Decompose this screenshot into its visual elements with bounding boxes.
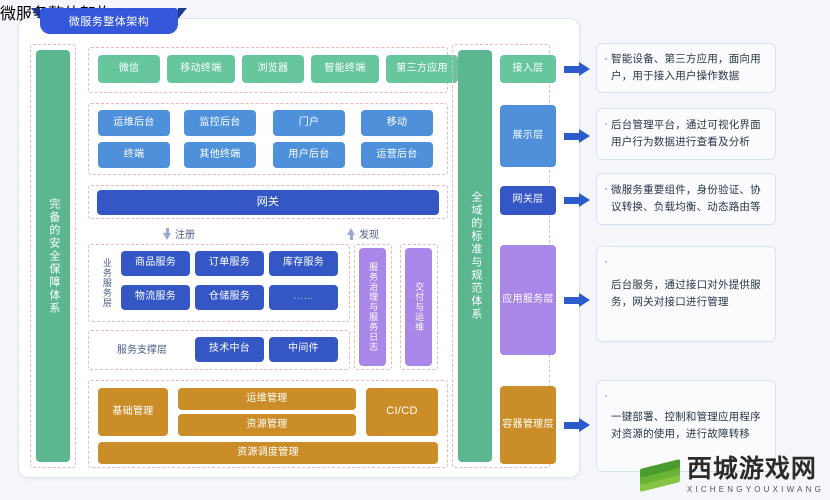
description-presentation-text: 后台管理平台，通过可视化界面用户行为数据进行查看及分析 [611, 117, 766, 151]
container-ops-management[interactable]: 运维管理 [178, 388, 356, 410]
layer-container[interactable]: 容器管理层 [500, 386, 556, 464]
presentation-mobile[interactable]: 移动 [361, 110, 433, 136]
description-access-text: 智能设备、第三方应用，面向用户，用于接入用户操作数据 [611, 51, 766, 85]
register-label: 注册 [175, 226, 195, 241]
layer-presentation[interactable]: 展示层 [500, 105, 556, 167]
business-layer-label: 业务服务层 [95, 248, 117, 318]
arrow-to-presentation-desc [564, 129, 590, 143]
watermark: 西城游戏网 XICHENGYOUXIWANG [640, 457, 824, 494]
description-gateway-text: 微服务重要组件，身份验证、协议转换、负载均衡、动态路由等 [611, 182, 766, 216]
access-item-browser[interactable]: 浏览器 [242, 55, 304, 83]
watermark-subtitle: XICHENGYOUXIWANG [687, 485, 824, 494]
service-logistics[interactable]: 物流服务 [121, 285, 190, 310]
bullet-icon: · [604, 52, 608, 64]
layer-application[interactable]: 应用服务层 [500, 245, 556, 355]
container-resource-scheduler[interactable]: 资源调度管理 [98, 442, 438, 464]
presentation-ops-console[interactable]: 运维后台 [98, 110, 170, 136]
container-resource-management[interactable]: 资源管理 [178, 414, 356, 436]
access-item-wechat[interactable]: 微信 [98, 55, 160, 83]
service-order[interactable]: 订单服务 [195, 251, 264, 276]
presentation-other-terminal[interactable]: 其他终端 [184, 142, 256, 168]
gateway-bar[interactable]: 网关 [97, 190, 439, 215]
bullet-icon: · [604, 117, 608, 129]
service-more[interactable]: …… [269, 285, 338, 310]
support-layer-label: 服务支撑层 [104, 337, 180, 363]
arrow-to-application-desc [564, 293, 590, 307]
discover-flow: 发现 [347, 226, 379, 241]
description-container-text: 一键部署、控制和管理应用程序对资源的使用，进行故障转移 [611, 409, 766, 443]
arrow-up-icon [347, 228, 355, 235]
layer-access[interactable]: 接入层 [500, 55, 556, 83]
arrow-to-container-desc [564, 418, 590, 432]
description-gateway: · 微服务重要组件，身份验证、协议转换、负载均衡、动态路由等 [596, 173, 776, 225]
bullet-icon: · [604, 182, 608, 194]
service-stock[interactable]: 库存服务 [269, 251, 338, 276]
bullet-icon: · [604, 255, 608, 267]
discover-label: 发现 [359, 226, 379, 241]
layer-gateway[interactable]: 网关层 [500, 186, 556, 215]
description-application-text: 后台服务，通过接口对外提供服务，网关对接口进行管理 [611, 277, 766, 311]
description-presentation: · 后台管理平台，通过可视化界面用户行为数据进行查看及分析 [596, 108, 776, 160]
register-flow: 注册 [163, 226, 195, 241]
delivery-ops-pillar[interactable]: 交付与运维 [405, 248, 432, 366]
security-guarantee-bar: 完备的安全保障体系 [36, 50, 70, 462]
presentation-terminal[interactable]: 终端 [98, 142, 170, 168]
watermark-title: 西城游戏网 [687, 457, 824, 482]
governance-logging-pillar[interactable]: 服务治理与服务日志 [359, 248, 386, 366]
bullet-icon: · [604, 389, 608, 401]
description-access: · 智能设备、第三方应用，面向用户，用于接入用户操作数据 [596, 43, 776, 93]
presentation-monitor-console[interactable]: 监控后台 [184, 110, 256, 136]
diagram-title-ribbon: 微服务整体架构 [40, 8, 178, 34]
access-item-mobile[interactable]: 移动终端 [167, 55, 235, 83]
architecture-diagram: 微服务整体架构 完备的安全保障体系 微信 移动终端 浏览器 智能终端 第三方应用… [0, 0, 830, 500]
description-application: · 后台服务，通过接口对外提供服务，网关对接口进行管理 [596, 246, 776, 342]
presentation-portal[interactable]: 门户 [273, 110, 345, 136]
access-item-third-party[interactable]: 第三方应用 [386, 55, 458, 83]
access-item-smart-terminal[interactable]: 智能终端 [311, 55, 379, 83]
service-warehouse[interactable]: 仓储服务 [195, 285, 264, 310]
presentation-user-console[interactable]: 用户后台 [273, 142, 345, 168]
arrow-to-access-desc [564, 62, 590, 76]
container-base-management[interactable]: 基础管理 [98, 388, 168, 436]
watermark-layers-icon [640, 458, 680, 494]
page-title: 微服务整体架构 [69, 13, 150, 29]
arrow-to-gateway-desc [564, 193, 590, 207]
service-product[interactable]: 商品服务 [121, 251, 190, 276]
support-tech-platform[interactable]: 技术中台 [195, 337, 264, 362]
support-middleware[interactable]: 中间件 [269, 337, 338, 362]
arrow-down-icon [163, 233, 171, 240]
container-cicd[interactable]: CI/CD [366, 388, 438, 436]
standards-specification-bar: 全域的标准与规范体系 [458, 50, 492, 462]
presentation-operation-console[interactable]: 运营后台 [361, 142, 433, 168]
